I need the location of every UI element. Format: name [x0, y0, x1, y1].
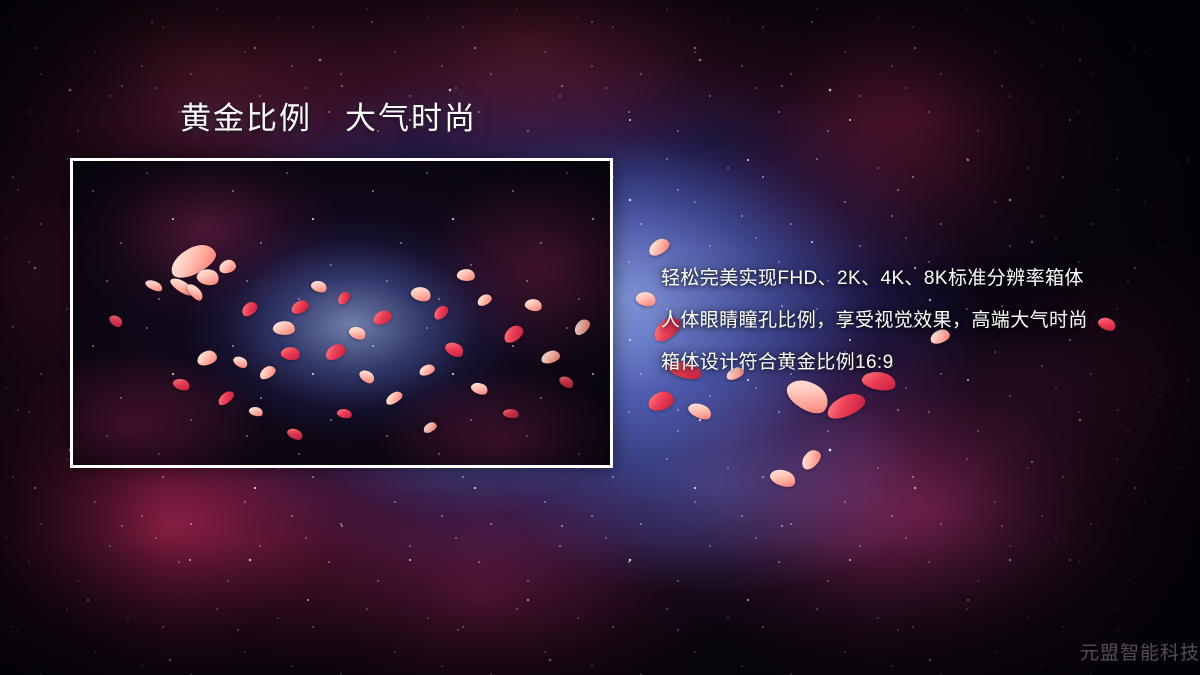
- feature-line-1: 轻松完美实现FHD、2K、4K、8K标准分辨率箱体: [661, 258, 1181, 300]
- slide-title: 黄金比例 大气时尚: [180, 100, 477, 139]
- flower-petal: [686, 399, 714, 423]
- flower-petal: [646, 389, 675, 412]
- flower-petal: [646, 236, 672, 258]
- flower-petal: [824, 390, 868, 422]
- framed-photo: [70, 158, 613, 468]
- feature-line-2: 人体眼睛瞳孔比例，享受视觉效果，高端大气时尚: [661, 300, 1181, 342]
- flower-petal: [634, 289, 658, 309]
- flower-petal: [798, 447, 824, 473]
- photo-vignette: [73, 161, 610, 465]
- feature-description: 轻松完美实现FHD、2K、4K、8K标准分辨率箱体 人体眼睛瞳孔比例，享受视觉效…: [661, 258, 1181, 384]
- company-watermark: 元盟智能科技: [1080, 638, 1200, 665]
- slide-canvas: 黄金比例 大气时尚 轻松完美实现FHD、2K、4K、8K标准分辨率箱体 人体眼睛…: [0, 0, 1200, 675]
- flower-petal: [768, 465, 798, 490]
- feature-line-3: 箱体设计符合黄金比例16:9: [661, 342, 1181, 384]
